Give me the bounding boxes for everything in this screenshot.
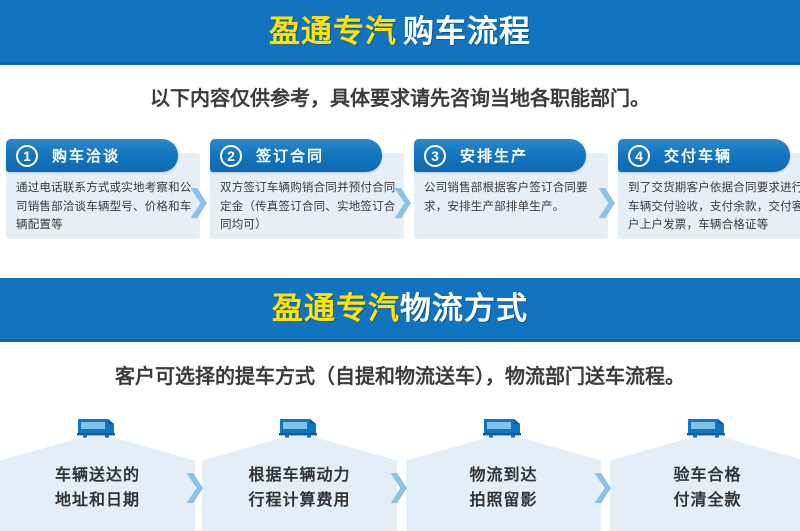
step-number-badge: 4 — [628, 145, 650, 167]
logistics-card-text: 根据车辆动力 行程计算费用 — [202, 464, 397, 514]
logistics-card-text: 验车合格 付清全款 — [610, 464, 800, 514]
banner-brand-highlight: 盈通专汽 — [272, 291, 400, 326]
step-description: 双方签订车辆购销合同并预付合同定金（传真签订合同、实地签订合同均可） — [220, 179, 396, 235]
step-number-badge: 2 — [220, 145, 242, 167]
logistics-card-line-1: 验车合格 — [610, 464, 800, 489]
step-title: 安排生产 — [460, 145, 528, 166]
banner-brand-highlight: 盈通专汽 — [269, 14, 397, 49]
step-title: 购车洽谈 — [52, 145, 120, 166]
chevron-right-icon: ❯ — [390, 187, 412, 217]
purchase-process-banner-text: 盈通专汽购车流程 — [269, 16, 531, 47]
truck-icon — [278, 415, 322, 439]
purchase-step-card: 2 签订合同 双方签订车辆购销合同并预付合同定金（传真签订合同、实地签订合同均可… — [210, 139, 404, 239]
step-title: 交付车辆 — [664, 145, 732, 166]
logistics-card-line-2: 行程计算费用 — [202, 489, 397, 514]
step-number-badge: 1 — [16, 145, 38, 167]
banner-title-rest: 物流方式 — [400, 291, 528, 326]
logistics-step-card: 验车合格 付清全款 — [610, 412, 800, 531]
truck-icon — [686, 415, 730, 439]
step-description: 到了交货期客户依据合同要求进行车辆交付验收，支付余款，交付客户上户发票，车辆合格… — [628, 179, 800, 235]
logistics-card-text: 车辆送达的 地址和日期 — [0, 464, 195, 514]
logistics-banner-text: 盈通专汽物流方式 — [272, 293, 528, 324]
step-card-header: 2 签订合同 — [210, 139, 382, 172]
truck-icon — [482, 415, 526, 439]
logistics-card-line-1: 根据车辆动力 — [202, 464, 397, 489]
step-card-header: 1 购车洽谈 — [6, 139, 178, 172]
logistics-step-card: 车辆送达的 地址和日期 — [0, 412, 195, 531]
logistics-banner: 盈通专汽物流方式 — [0, 278, 800, 342]
logistics-steps-row: 车辆送达的 地址和日期 根据车辆动力 行程计算费用 — [0, 412, 800, 531]
logistics-card-text: 物流到达 拍照留影 — [406, 464, 601, 514]
step-description: 通过电话联系方式或实地考察和公司销售部洽谈车辆型号、价格和车辆配置等 — [16, 179, 192, 235]
logistics-step-card: 根据车辆动力 行程计算费用 — [202, 412, 397, 531]
purchase-step-card: 4 交付车辆 到了交货期客户依据合同要求进行车辆交付验收，支付余款，交付客户上户… — [618, 139, 800, 239]
banner-title-rest: 购车流程 — [403, 14, 531, 49]
purchase-step-card: 3 安排生产 公司销售部根据客户签订合同要求，安排生产部排单生产。 — [414, 139, 608, 239]
logistics-card-line-2: 拍照留影 — [406, 489, 601, 514]
logistics-subtitle: 客户可选择的提车方式（自提和物流送车），物流部门送车流程。 — [0, 360, 800, 389]
logistics-card-line-2: 付清全款 — [610, 489, 800, 514]
purchase-and-logistics-infographic: 盈通专汽购车流程 以下内容仅供参考，具体要求请先咨询当地各职能部门。 1 购车洽… — [0, 0, 800, 531]
logistics-step-card: 物流到达 拍照留影 — [406, 412, 601, 531]
chevron-right-icon: ❯ — [182, 472, 204, 502]
chevron-right-icon: ❯ — [590, 472, 612, 502]
purchase-process-subtitle: 以下内容仅供参考，具体要求请先咨询当地各职能部门。 — [0, 82, 800, 111]
logistics-card-line-2: 地址和日期 — [0, 489, 195, 514]
step-number-badge: 3 — [424, 145, 446, 167]
step-card-header: 3 安排生产 — [414, 139, 586, 172]
purchase-steps-row: 1 购车洽谈 通过电话联系方式或实地考察和公司销售部洽谈车辆型号、价格和车辆配置… — [0, 139, 800, 244]
chevron-right-icon: ❯ — [186, 187, 208, 217]
truck-icon — [76, 415, 120, 439]
step-description: 公司销售部根据客户签订合同要求，安排生产部排单生产。 — [424, 179, 600, 216]
logistics-card-line-1: 车辆送达的 — [0, 464, 195, 489]
logistics-card-line-1: 物流到达 — [406, 464, 601, 489]
step-card-header: 4 交付车辆 — [618, 139, 790, 172]
chevron-right-icon: ❯ — [386, 472, 408, 502]
purchase-process-banner: 盈通专汽购车流程 — [0, 0, 800, 65]
step-title: 签订合同 — [256, 145, 324, 166]
chevron-right-icon: ❯ — [594, 187, 616, 217]
purchase-step-card: 1 购车洽谈 通过电话联系方式或实地考察和公司销售部洽谈车辆型号、价格和车辆配置… — [6, 139, 200, 239]
